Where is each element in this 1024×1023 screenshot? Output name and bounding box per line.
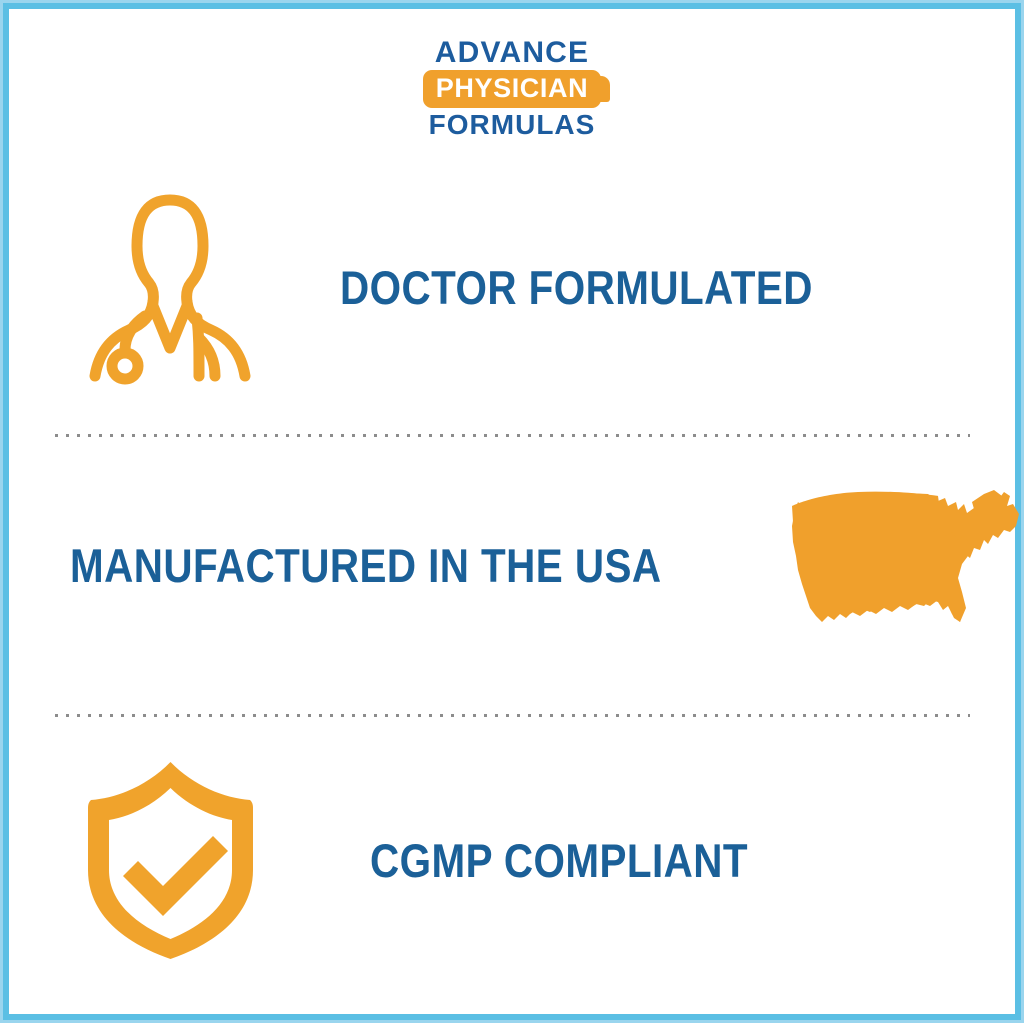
feature-label: CGMP COMPLIANT bbox=[370, 833, 748, 888]
feature-row-doctor-formulated: DOCTOR FORMULATED bbox=[40, 180, 984, 395]
feature-label: MANUFACTURED IN THE USA bbox=[70, 538, 661, 593]
doctor-stethoscope-icon bbox=[40, 188, 300, 388]
brand-logo: ADVANCE PHYSICIAN FORMULAS bbox=[0, 38, 1024, 139]
logo-word-physician: PHYSICIAN bbox=[436, 75, 588, 102]
divider-2 bbox=[55, 714, 970, 717]
logo-word-advance: ADVANCE bbox=[435, 38, 590, 68]
feature-text-cgmp-compliant: CGMP COMPLIANT bbox=[300, 833, 984, 888]
shield-check-icon bbox=[40, 758, 300, 963]
feature-text-doctor-formulated: DOCTOR FORMULATED bbox=[300, 260, 984, 315]
feature-text-manufactured-in-the-usa: MANUFACTURED IN THE USA bbox=[40, 538, 758, 593]
logo-word-formulas: FORMULAS bbox=[429, 111, 596, 139]
feature-label: DOCTOR FORMULATED bbox=[340, 260, 813, 315]
feature-row-manufactured-in-the-usa: MANUFACTURED IN THE USA bbox=[40, 458, 984, 673]
feature-row-cgmp-compliant: CGMP COMPLIANT bbox=[40, 745, 984, 975]
logo-orange-banner: PHYSICIAN bbox=[423, 70, 601, 108]
usa-map-icon bbox=[758, 488, 1024, 643]
divider-1 bbox=[55, 434, 970, 437]
product-benefits-graphic: ADVANCE PHYSICIAN FORMULAS bbox=[0, 0, 1024, 1023]
